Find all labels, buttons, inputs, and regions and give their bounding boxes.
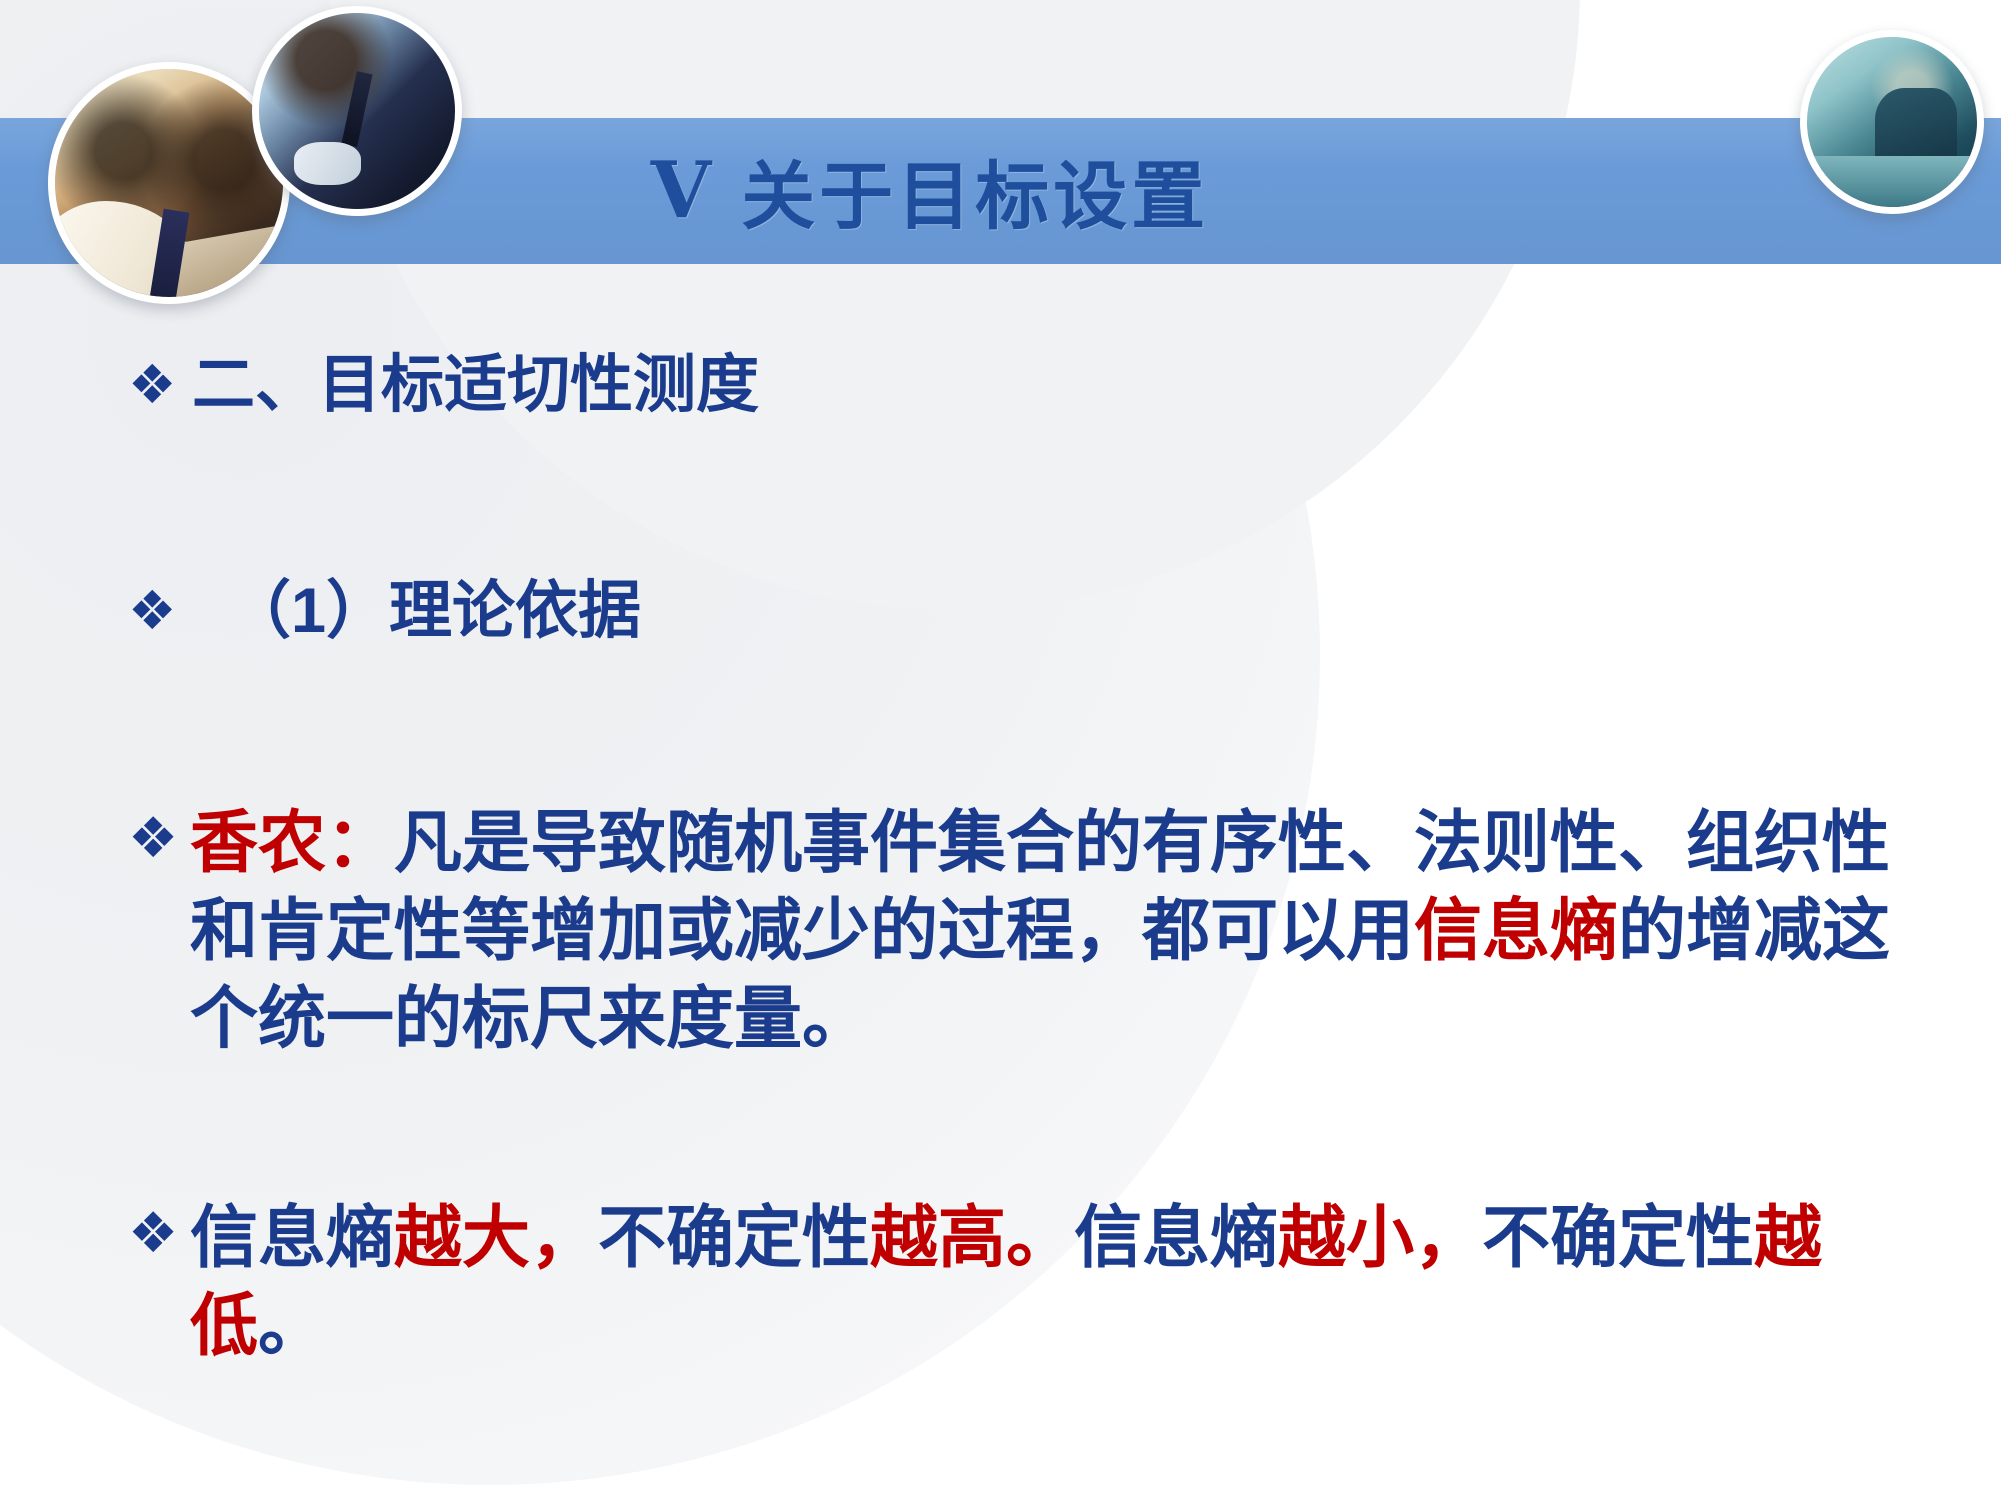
photo-right-desk-shape bbox=[1807, 156, 1977, 207]
diamond-bullet-icon: ❖ bbox=[128, 1197, 182, 1270]
title-roman-numeral: Ⅴ bbox=[651, 145, 716, 236]
diamond-bullet-icon: ❖ bbox=[128, 802, 182, 875]
diamond-bullet-icon: ❖ bbox=[128, 576, 182, 646]
photo-left-image bbox=[55, 69, 283, 297]
bullet-text-sub-heading-1: （1）理论依据 bbox=[136, 574, 2001, 648]
bullet-item-sub-heading-1: ❖ （1）理论依据 bbox=[0, 574, 2001, 648]
text-run-highlight: 越高。 bbox=[870, 1200, 1074, 1276]
businessman-at-desk-photo bbox=[1800, 30, 1984, 214]
photo-mid-image bbox=[259, 13, 455, 209]
text-run-highlight: 越小， bbox=[1278, 1200, 1482, 1276]
presentation-slide: Ⅴ 关于目标设置 ❖ 二、目标适切性测度 ❖ （1）理论依据 bbox=[0, 0, 2001, 1501]
photo-right-image bbox=[1807, 37, 1977, 207]
text-run-normal: 。 bbox=[258, 1288, 326, 1364]
bullet-item-shannon-definition: ❖ 香农：凡是导致随机事件集合的有序性、法则性、组织性和肯定性等增加或减少的过程… bbox=[0, 799, 2001, 1064]
businessman-handshake-photo bbox=[252, 6, 462, 216]
text-run-highlight: 香农： bbox=[190, 805, 394, 881]
diamond-bullet-icon: ❖ bbox=[128, 350, 182, 420]
bullet-text-heading-2: 二、目标适切性测度 bbox=[136, 348, 2001, 422]
text-run-normal: 信息熵 bbox=[1074, 1200, 1278, 1276]
text-run-normal: 不确定性 bbox=[1482, 1200, 1754, 1276]
text-run-normal: （1）理论依据 bbox=[228, 576, 641, 646]
photo-mid-tie-shape bbox=[342, 71, 373, 147]
photo-mid-hand-shape bbox=[294, 142, 361, 185]
bullet-item-entropy-uncertainty-rule: ❖ 信息熵越大，不确定性越高。信息熵越小，不确定性越低。 bbox=[0, 1194, 2001, 1371]
bullet-text-entropy-uncertainty-rule: 信息熵越大，不确定性越高。信息熵越小，不确定性越低。 bbox=[136, 1194, 2001, 1371]
bullet-item-heading-2: ❖ 二、目标适切性测度 bbox=[0, 348, 2001, 422]
text-run-highlight: 信息熵 bbox=[1414, 893, 1618, 969]
text-run-highlight: 越大， bbox=[394, 1200, 598, 1276]
text-run-normal: 不确定性 bbox=[598, 1200, 870, 1276]
slide-body: ❖ 二、目标适切性测度 ❖ （1）理论依据 ❖ 香农：凡是导致随机事件集合的有序… bbox=[0, 300, 2001, 1371]
text-run-normal: 信息熵 bbox=[190, 1200, 394, 1276]
text-run-normal: 二、目标适切性测度 bbox=[192, 350, 759, 420]
title-text: 关于目标设置 bbox=[741, 137, 1209, 244]
bullet-text-shannon-definition: 香农：凡是导致随机事件集合的有序性、法则性、组织性和肯定性等增加或减少的过程，都… bbox=[136, 799, 2001, 1064]
